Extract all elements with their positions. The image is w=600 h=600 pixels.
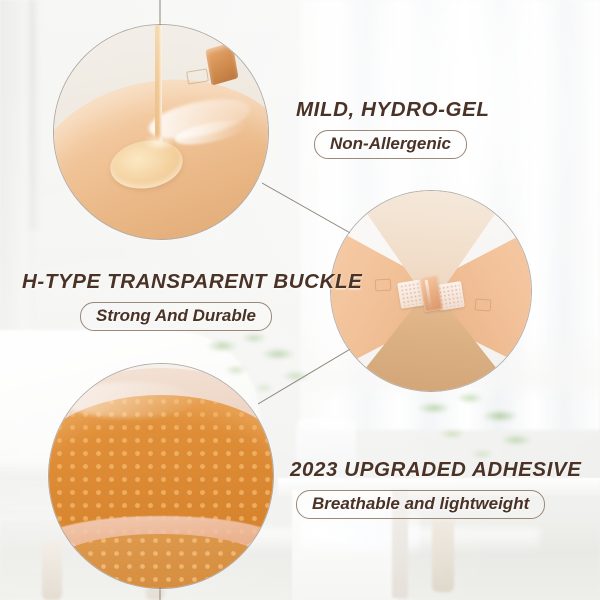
right-embossed-mark [475, 298, 492, 311]
product-feature-infographic: MILD, HYDRO-GEL Non-Allergenic H-TYPE TR… [0, 0, 600, 600]
feature-upgraded-adhesive: 2023 UPGRADED ADHESIVE Breathable and li… [290, 458, 582, 519]
feature-badge: Non-Allergenic [314, 130, 467, 159]
adhesive-highlight [62, 382, 196, 418]
feature-heading: H-TYPE TRANSPARENT BUCKLE [22, 270, 362, 294]
feature-heading: 2023 UPGRADED ADHESIVE [290, 458, 582, 482]
left-embossed-mark [375, 278, 392, 291]
gel-stream [155, 24, 162, 149]
feature-heading: MILD, HYDRO-GEL [296, 98, 490, 122]
feature-badge: Strong And Durable [80, 302, 272, 331]
gel-pour-photo [53, 24, 269, 240]
adhesive-dots-photo [48, 363, 274, 589]
feature-badge: Breathable and lightweight [296, 490, 545, 519]
h-type-buckle [399, 279, 463, 311]
feature-hydro-gel: MILD, HYDRO-GEL Non-Allergenic [296, 98, 490, 159]
feature-h-type-buckle: H-TYPE TRANSPARENT BUCKLE Strong And Dur… [22, 270, 362, 331]
adhesive-dot-texture-lower [58, 534, 264, 589]
